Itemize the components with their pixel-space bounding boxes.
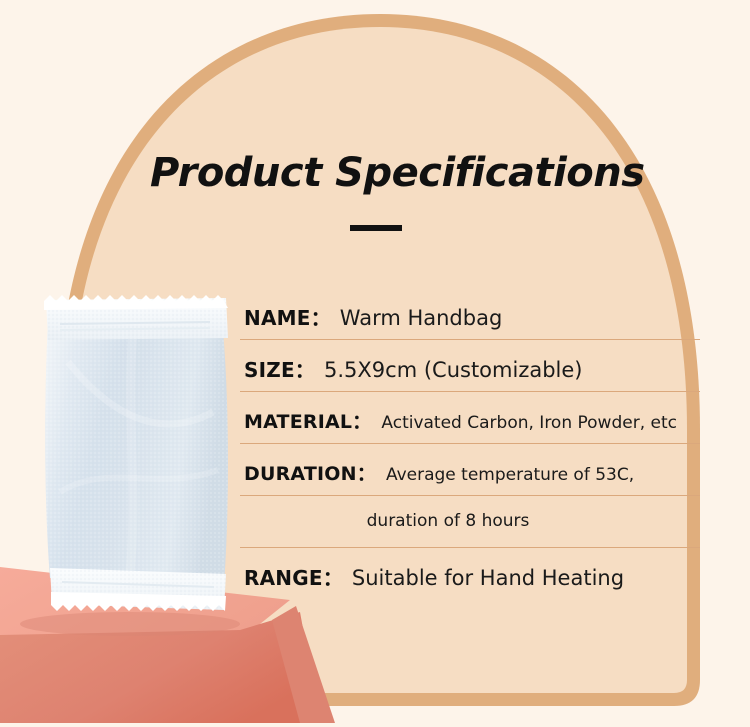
table-row: NAME： Warm Handbag [240, 288, 700, 340]
spec-value-range: Suitable for Hand Heating [343, 566, 624, 590]
spec-label-size: SIZE： [240, 354, 315, 383]
package-sheen [45, 318, 228, 584]
title-underline [350, 225, 402, 231]
table-row: SIZE： 5.5X9cm (Customizable) [240, 340, 700, 392]
spec-label-material: MATERIAL： [240, 407, 371, 434]
spec-value-size: 5.5X9cm (Customizable) [315, 358, 582, 382]
spec-label-duration: DURATION： [240, 459, 376, 486]
package-top-serration [44, 295, 228, 310]
spec-value-material: Activated Carbon, Iron Powder, etc [371, 413, 677, 433]
table-row: DURATION： Average temperature of 53C, [240, 444, 700, 496]
specifications-table: NAME： Warm Handbag SIZE： 5.5X9cm (Custom… [240, 288, 700, 600]
spec-value-name: Warm Handbag [331, 306, 503, 330]
table-row: RANGE： Suitable for Hand Heating [240, 548, 700, 600]
warm-handbag-package [38, 292, 238, 617]
spec-label-range: RANGE： [240, 562, 343, 591]
spec-label-name: NAME： [240, 302, 331, 331]
page-title: Product Specifications [150, 150, 620, 196]
table-row: MATERIAL： Activated Carbon, Iron Powder,… [240, 392, 700, 444]
package-crease-c [130, 332, 133, 572]
poster-canvas: Product Specifications NAME： Warm Handba… [0, 0, 750, 723]
spec-value-duration: Average temperature of 53C, [376, 465, 634, 485]
spec-value-duration-continued: duration of 8 hours [240, 496, 700, 548]
